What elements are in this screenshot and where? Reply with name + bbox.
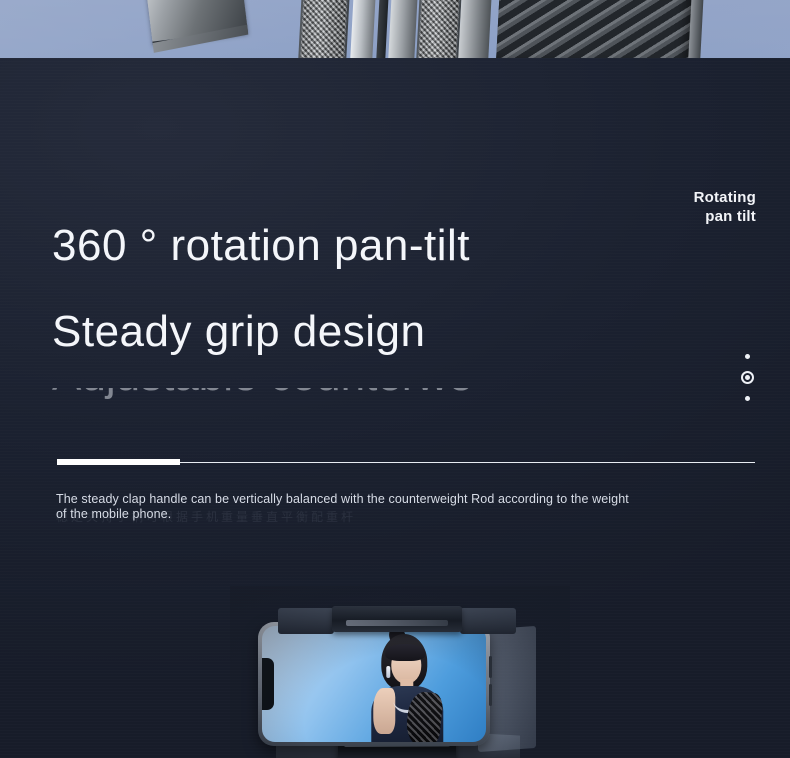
model-photo-on-screen	[355, 626, 459, 742]
top-clamp-wing-left	[278, 608, 334, 634]
knurled-grip-texture-2	[416, 0, 462, 58]
page-title-line-3-text: Adjustable counterweight	[52, 388, 472, 398]
carousel-dot-3[interactable]	[745, 396, 750, 401]
polished-bar-1	[350, 0, 376, 58]
phone-volume-button-up	[489, 656, 492, 678]
model-shoulder-skin	[373, 688, 395, 734]
hero-headings: 360 ° rotation pan-tilt Steady grip desi…	[52, 203, 652, 375]
knurled-grip-texture	[298, 0, 350, 58]
phone-notch	[262, 658, 274, 710]
page-title-line-2: Steady grip design	[52, 289, 652, 375]
top-product-photo-strip	[0, 0, 790, 58]
louvered-vent-panel	[496, 0, 700, 58]
carousel-dot-2-active[interactable]	[741, 371, 754, 384]
carousel-indicator[interactable]	[739, 354, 755, 401]
page-title-line-1: 360 ° rotation pan-tilt	[52, 203, 652, 289]
polished-bar-2	[388, 0, 418, 58]
phone-screen	[262, 626, 486, 742]
feature-description-secondary: 稳定夹持手柄可根据手机重量垂直平衡配重杆	[56, 510, 656, 525]
top-clamp-wing-right	[460, 608, 516, 634]
hero-section: Rotating pan tilt 360 ° rotation pan-til…	[0, 58, 790, 758]
smartphone-in-clamp	[258, 622, 490, 746]
progress-bar-fill[interactable]	[57, 459, 180, 465]
polished-bar-3	[458, 0, 492, 58]
upper-clamp-assembly	[332, 606, 462, 632]
carousel-dot-1[interactable]	[745, 354, 750, 359]
product-photo	[250, 606, 550, 758]
phone-volume-button-down	[489, 684, 492, 706]
page-title-line-3-clipped: Adjustable counterweight	[52, 388, 472, 414]
model-earring	[386, 666, 390, 678]
product-detail-page: Rotating pan tilt 360 ° rotation pan-til…	[0, 0, 790, 758]
model-fringe	[385, 644, 425, 661]
